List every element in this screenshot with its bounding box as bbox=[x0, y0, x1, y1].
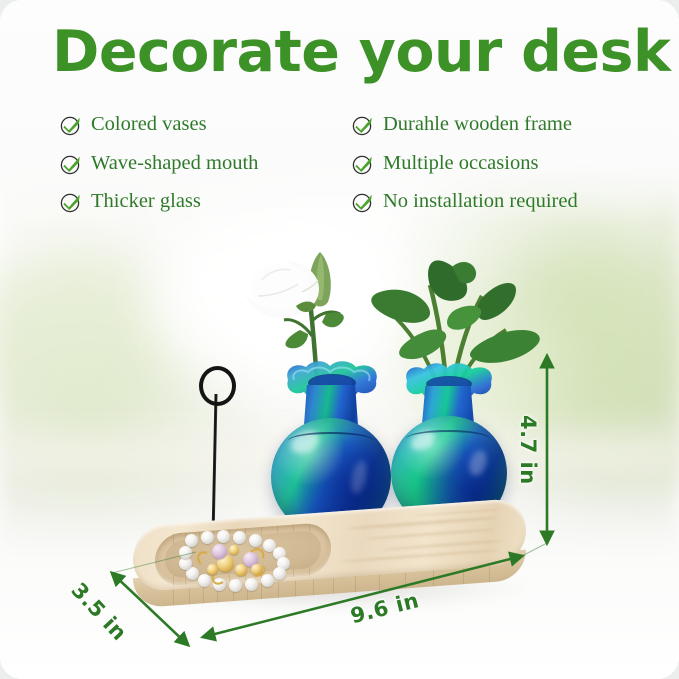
feature-label: Durahle wooden frame bbox=[383, 113, 572, 136]
feature-item-thicker-glass: Thicker glass bbox=[60, 190, 201, 213]
pearl-bead bbox=[179, 546, 192, 559]
check-circle-icon bbox=[60, 191, 82, 213]
feature-label: Thicker glass bbox=[91, 190, 201, 213]
feature-item-no-installation-required: No installation required bbox=[352, 190, 578, 213]
check-circle-icon bbox=[60, 153, 82, 175]
feature-label: No installation required bbox=[383, 190, 578, 213]
feature-label: Wave-shaped mouth bbox=[91, 152, 258, 175]
feature-item-wave-shaped-mouth: Wave-shaped mouth bbox=[60, 152, 258, 175]
height-dimension-label: 4.7 in bbox=[516, 415, 540, 485]
vase-left-seam bbox=[288, 432, 374, 450]
feature-label: Multiple occasions bbox=[383, 152, 538, 175]
feature-label: Colored vases bbox=[91, 113, 207, 136]
jewelry-contents bbox=[155, 528, 335, 598]
check-circle-icon bbox=[352, 153, 374, 175]
check-circle-icon bbox=[352, 114, 374, 136]
wire-photo-holder-ring-icon bbox=[199, 366, 236, 406]
vase-right-seam bbox=[406, 430, 490, 448]
feature-item-durable-wooden-frame: Durahle wooden frame bbox=[352, 113, 572, 136]
page-title: Decorate your desk bbox=[52, 24, 670, 81]
check-circle-icon bbox=[60, 114, 82, 136]
product-info-card: Decorate your desk Colored vases Wave-sh… bbox=[0, 0, 679, 679]
feature-item-colored-vases: Colored vases bbox=[60, 113, 207, 136]
gold-earring-hooks bbox=[193, 542, 283, 590]
feature-item-multiple-occasions: Multiple occasions bbox=[352, 152, 538, 175]
check-circle-icon bbox=[352, 191, 374, 213]
